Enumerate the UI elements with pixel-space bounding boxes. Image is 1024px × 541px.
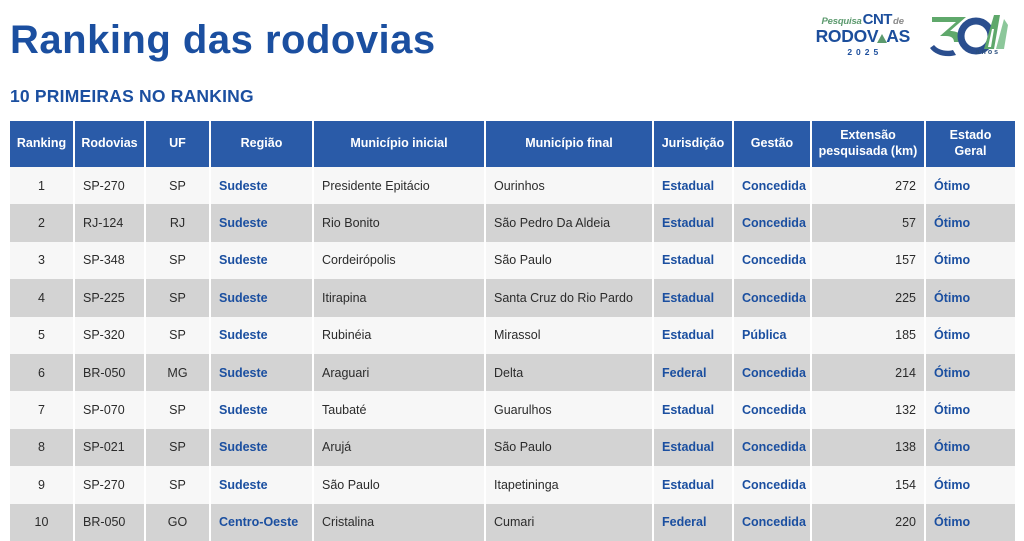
cell-estado-geral: Ótimo: [925, 391, 1015, 428]
cell-regiao: Sudeste: [210, 204, 313, 241]
column-header-extensao-line2: pesquisada (km): [819, 144, 918, 158]
table-row[interactable]: 1SP-270SPSudestePresidente EpitácioOurin…: [10, 167, 1015, 204]
cell-regiao: Sudeste: [210, 354, 313, 391]
cell-jurisdicao: Estadual: [653, 429, 733, 466]
cell-regiao: Sudeste: [210, 391, 313, 428]
cell-ranking: 2: [10, 204, 74, 241]
cell-municipio-inicial: Cristalina: [313, 504, 485, 541]
cell-extensao: 214: [811, 354, 925, 391]
cell-estado-geral: Ótimo: [925, 466, 1015, 503]
table-body: 1SP-270SPSudestePresidente EpitácioOurin…: [10, 167, 1015, 541]
cnt-logo-rodovias-text: RODOVAS: [816, 28, 910, 46]
cell-municipio-inicial: Araguari: [313, 354, 485, 391]
cell-municipio-inicial: Rio Bonito: [313, 204, 485, 241]
column-header-municipio-inicial[interactable]: Município inicial: [313, 121, 485, 167]
table-row[interactable]: 8SP-021SPSudesteArujáSão PauloEstadualCo…: [10, 429, 1015, 466]
cell-extensao: 132: [811, 391, 925, 428]
cell-municipio-final: Santa Cruz do Rio Pardo: [485, 279, 653, 316]
cell-municipio-final: Guarulhos: [485, 391, 653, 428]
cell-ranking: 10: [10, 504, 74, 541]
column-header-extensao[interactable]: Extensão pesquisada (km): [811, 121, 925, 167]
table-row[interactable]: 2RJ-124RJSudesteRio BonitoSão Pedro Da A…: [10, 204, 1015, 241]
cell-rodovia: SP-348: [74, 242, 145, 279]
cell-rodovia: BR-050: [74, 354, 145, 391]
cell-ranking: 5: [10, 317, 74, 354]
cell-rodovia: RJ-124: [74, 204, 145, 241]
table-row[interactable]: 9SP-270SPSudesteSão PauloItapetiningaEst…: [10, 466, 1015, 503]
cnt-logo-year: 2025: [843, 48, 882, 57]
table-header-row: Ranking Rodovias UF Região Município ini…: [10, 121, 1015, 167]
cell-ranking: 9: [10, 466, 74, 503]
cell-extensao: 157: [811, 242, 925, 279]
table-row[interactable]: 6BR-050MGSudesteAraguariDeltaFederalConc…: [10, 354, 1015, 391]
cnt-logo-cnt-text: CNT: [863, 12, 892, 27]
cell-municipio-inicial: Rubinéia: [313, 317, 485, 354]
cell-rodovia: SP-270: [74, 167, 145, 204]
cell-regiao: Sudeste: [210, 279, 313, 316]
cell-gestao: Concedida: [733, 279, 811, 316]
cell-extensao: 138: [811, 429, 925, 466]
cell-municipio-inicial: Presidente Epitácio: [313, 167, 485, 204]
cell-uf: SP: [145, 279, 210, 316]
section-subtitle: 10 PRIMEIRAS NO RANKING: [10, 86, 254, 107]
cell-uf: SP: [145, 391, 210, 428]
cell-gestao: Concedida: [733, 354, 811, 391]
cell-estado-geral: Ótimo: [925, 279, 1015, 316]
cell-uf: SP: [145, 466, 210, 503]
column-header-rodovias[interactable]: Rodovias: [74, 121, 145, 167]
cell-jurisdicao: Federal: [653, 504, 733, 541]
cell-gestao: Concedida: [733, 391, 811, 428]
cnt-rodovias-logo: Pesquisa CNT de RODOVAS 2025: [816, 10, 910, 56]
cell-gestao: Concedida: [733, 504, 811, 541]
cell-municipio-inicial: Cordeirópolis: [313, 242, 485, 279]
cell-uf: SP: [145, 429, 210, 466]
cell-ranking: 4: [10, 279, 74, 316]
cell-uf: RJ: [145, 204, 210, 241]
cell-rodovia: BR-050: [74, 504, 145, 541]
cell-uf: GO: [145, 504, 210, 541]
cell-municipio-final: Ourinhos: [485, 167, 653, 204]
cell-extensao: 154: [811, 466, 925, 503]
cell-jurisdicao: Estadual: [653, 317, 733, 354]
column-header-regiao[interactable]: Região: [210, 121, 313, 167]
cell-jurisdicao: Estadual: [653, 167, 733, 204]
cell-municipio-final: São Paulo: [485, 242, 653, 279]
cell-rodovia: SP-225: [74, 279, 145, 316]
cell-gestao: Concedida: [733, 167, 811, 204]
cell-municipio-final: Delta: [485, 354, 653, 391]
table-row[interactable]: 4SP-225SPSudesteItirapinaSanta Cruz do R…: [10, 279, 1015, 316]
cell-jurisdicao: Estadual: [653, 204, 733, 241]
cell-estado-geral: Ótimo: [925, 317, 1015, 354]
cell-municipio-final: Itapetininga: [485, 466, 653, 503]
cnt-logo-rodovias-part1: RODOV: [816, 26, 879, 46]
cell-rodovia: SP-320: [74, 317, 145, 354]
cell-jurisdicao: Estadual: [653, 466, 733, 503]
column-header-uf[interactable]: UF: [145, 121, 210, 167]
cell-estado-geral: Ótimo: [925, 167, 1015, 204]
cell-estado-geral: Ótimo: [925, 204, 1015, 241]
cell-gestao: Concedida: [733, 242, 811, 279]
cell-regiao: Sudeste: [210, 466, 313, 503]
table-row[interactable]: 3SP-348SPSudesteCordeirópolisSão PauloEs…: [10, 242, 1015, 279]
cell-regiao: Centro-Oeste: [210, 504, 313, 541]
cell-rodovia: SP-070: [74, 391, 145, 428]
cell-ranking: 3: [10, 242, 74, 279]
logo-area: Pesquisa CNT de RODOVAS 2025 anos: [816, 6, 1012, 60]
cell-extensao: 220: [811, 504, 925, 541]
cell-ranking: 6: [10, 354, 74, 391]
cnt-logo-rodovias-part2: AS: [886, 26, 910, 46]
cell-jurisdicao: Estadual: [653, 279, 733, 316]
cell-rodovia: SP-021: [74, 429, 145, 466]
table-row[interactable]: 7SP-070SPSudesteTaubatéGuarulhosEstadual…: [10, 391, 1015, 428]
cell-municipio-final: Cumari: [485, 504, 653, 541]
cell-gestao: Concedida: [733, 204, 811, 241]
cell-gestao: Concedida: [733, 466, 811, 503]
column-header-extensao-line1: Extensão: [840, 128, 896, 142]
cell-jurisdicao: Estadual: [653, 242, 733, 279]
cell-ranking: 8: [10, 429, 74, 466]
cell-estado-geral: Ótimo: [925, 354, 1015, 391]
cell-estado-geral: Ótimo: [925, 504, 1015, 541]
cell-regiao: Sudeste: [210, 242, 313, 279]
rodovias-ranking-table: Ranking Rodovias UF Região Município ini…: [10, 121, 1015, 541]
cell-uf: SP: [145, 167, 210, 204]
cell-municipio-inicial: Itirapina: [313, 279, 485, 316]
cell-uf: SP: [145, 242, 210, 279]
cell-estado-geral: Ótimo: [925, 429, 1015, 466]
cell-jurisdicao: Estadual: [653, 391, 733, 428]
cell-extensao: 57: [811, 204, 925, 241]
cell-jurisdicao: Federal: [653, 354, 733, 391]
cell-extensao: 272: [811, 167, 925, 204]
column-header-ranking[interactable]: Ranking: [10, 121, 74, 167]
cell-uf: SP: [145, 317, 210, 354]
cell-regiao: Sudeste: [210, 317, 313, 354]
column-header-estado-geral[interactable]: Estado Geral: [925, 121, 1015, 167]
cell-extensao: 225: [811, 279, 925, 316]
table-row[interactable]: 5SP-320SPSudesteRubinéiaMirassolEstadual…: [10, 317, 1015, 354]
cell-municipio-final: Mirassol: [485, 317, 653, 354]
page-title: Ranking das rodovias: [10, 18, 436, 63]
cell-municipio-final: São Paulo: [485, 429, 653, 466]
table-row[interactable]: 10BR-050GOCentro-OesteCristalinaCumariFe…: [10, 504, 1015, 541]
cell-ranking: 1: [10, 167, 74, 204]
cell-regiao: Sudeste: [210, 167, 313, 204]
anniversary-30-anos-logo: anos: [926, 9, 1012, 57]
anniversary-anos-text: anos: [976, 49, 1000, 56]
cell-uf: MG: [145, 354, 210, 391]
cell-gestao: Concedida: [733, 429, 811, 466]
cnt-logo-topline: Pesquisa CNT de: [822, 12, 905, 27]
cell-ranking: 7: [10, 391, 74, 428]
cell-municipio-inicial: São Paulo: [313, 466, 485, 503]
cell-extensao: 185: [811, 317, 925, 354]
cell-municipio-inicial: Taubaté: [313, 391, 485, 428]
table-header: Ranking Rodovias UF Região Município ini…: [10, 121, 1015, 167]
cell-estado-geral: Ótimo: [925, 242, 1015, 279]
cell-municipio-inicial: Arujá: [313, 429, 485, 466]
column-header-municipio-final[interactable]: Município final: [485, 121, 653, 167]
cell-regiao: Sudeste: [210, 429, 313, 466]
cell-gestao: Pública: [733, 317, 811, 354]
cell-rodovia: SP-270: [74, 466, 145, 503]
column-header-gestao[interactable]: Gestão: [733, 121, 811, 167]
column-header-jurisdicao[interactable]: Jurisdição: [653, 121, 733, 167]
cell-municipio-final: São Pedro Da Aldeia: [485, 204, 653, 241]
